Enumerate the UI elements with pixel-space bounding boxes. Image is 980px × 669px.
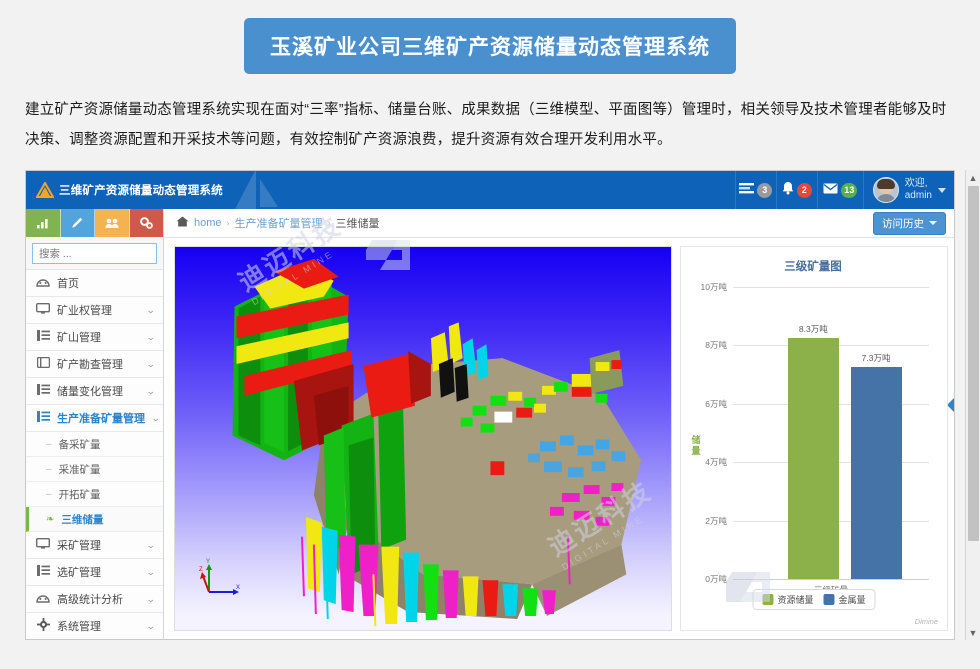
- axis-orientation-gizmo: Y X Z: [199, 558, 245, 602]
- header-tasks-button[interactable]: 3: [735, 171, 776, 209]
- chart-y-tick: 4万吨: [705, 456, 727, 468]
- chevron-down-icon: ⌄: [146, 332, 156, 343]
- quick-action-bar: [26, 209, 163, 237]
- chart-y-tick: 8万吨: [705, 339, 727, 351]
- sidebar-subitem-label: 三维储量: [61, 512, 103, 527]
- list-icon: [36, 565, 50, 579]
- page-description: 建立矿产资源储量动态管理系统实现在面对“三率”指标、储量台账、成果数据（三维模型…: [25, 92, 955, 155]
- sidebar-subitem-kaituo[interactable]: – 开拓矿量: [26, 482, 163, 507]
- chart-y-tick: 0万吨: [705, 573, 727, 585]
- svg-text:Z: Z: [199, 567, 203, 573]
- app-header: 三维矿产资源储量动态管理系统 3: [26, 171, 954, 209]
- sidebar-subitem-label: 备采矿量: [59, 437, 101, 452]
- list-icon: [36, 330, 50, 344]
- chart-legend: 资源储量 金属量: [752, 589, 875, 610]
- sidebar-item-reserve-change[interactable]: 储量变化管理 ⌄: [26, 378, 163, 405]
- quick-edit-button[interactable]: [61, 209, 96, 237]
- sidebar-item-label: 生产准备矿量管理: [57, 410, 145, 426]
- avatar: [873, 177, 899, 203]
- user-name: admin: [905, 190, 932, 201]
- chevron-down-icon: ⌄: [146, 540, 156, 551]
- sidebar-item-label: 储量变化管理: [57, 383, 140, 399]
- chart-y-tick: 2万吨: [705, 515, 727, 527]
- chart-y-tick: 6万吨: [705, 398, 727, 410]
- bar-resource-reserve[interactable]: 8.3万吨: [788, 338, 839, 580]
- user-greeting: 欢迎,: [905, 178, 928, 189]
- dash-icon: –: [46, 464, 52, 475]
- sidebar-item-production-reserve[interactable]: 生产准备矿量管理 ⌄: [26, 405, 163, 432]
- legend-label: 资源储量: [777, 593, 813, 606]
- legend-item-metal-amount[interactable]: 金属量: [824, 593, 866, 606]
- header-notifications-button[interactable]: 2: [776, 171, 817, 209]
- content-area: home › 生产准备矿量管理 › 三维储量 访问历史: [164, 209, 954, 639]
- header-spacer: [164, 171, 735, 209]
- sidebar-item-label: 矿业权管理: [57, 302, 140, 318]
- quick-users-button[interactable]: [95, 209, 130, 237]
- chart-plot-wrapper: 10万吨 8万吨 6万吨 4万吨: [687, 282, 939, 624]
- bar-metal-amount[interactable]: 7.3万吨: [851, 367, 902, 580]
- chart-watermark: Dimine: [915, 617, 938, 626]
- svg-text:X: X: [236, 585, 240, 591]
- breadcrumb-current: 三维储量: [336, 215, 380, 231]
- chevron-down-icon: [929, 221, 937, 225]
- sidebar-item-label: 首页: [57, 275, 155, 291]
- sidebar-item-advanced-stats[interactable]: 高级统计分析 ⌄: [26, 586, 163, 613]
- sidebar-subitem-label: 开拓矿量: [59, 487, 101, 502]
- tasks-icon: [739, 181, 754, 199]
- chevron-down-icon: ⌄: [146, 305, 156, 316]
- search-input[interactable]: [32, 243, 157, 264]
- quick-chart-button[interactable]: [26, 209, 61, 237]
- sidebar-subitem-caizhun[interactable]: – 采准矿量: [26, 457, 163, 482]
- svg-text:Y: Y: [206, 559, 210, 565]
- sidebar-item-mine-management[interactable]: 矿山管理 ⌄: [26, 324, 163, 351]
- chart-plot-area: 10万吨 8万吨 6万吨 4万吨: [733, 288, 929, 580]
- bar-value-label: 8.3万吨: [799, 323, 828, 335]
- sidebar-item-home[interactable]: 首页: [26, 270, 163, 297]
- chevron-down-icon: [938, 188, 946, 193]
- sidebar-subitem-3d-reserve[interactable]: ❧ 三维储量: [26, 507, 163, 532]
- chevron-down-icon: ⌄: [146, 359, 156, 370]
- sidebar-submenu: – 备采矿量 – 采准矿量 – 开拓矿量 ❧ 三维储量: [26, 432, 163, 532]
- scrollbar-track[interactable]: [966, 185, 980, 625]
- chart-y-tick: 10万吨: [701, 281, 727, 293]
- sidebar-item-label: 选矿管理: [57, 564, 140, 580]
- sidebar-search: [26, 237, 163, 269]
- legend-swatch: [762, 594, 773, 605]
- quick-settings-button[interactable]: [130, 209, 164, 237]
- page-title: 玉溪矿业公司三维矿产资源储量动态管理系统: [244, 18, 736, 74]
- scroll-down-arrow-icon[interactable]: ▼: [966, 625, 980, 640]
- sidebar-item-label: 矿山管理: [57, 329, 140, 345]
- book-icon: [36, 357, 50, 371]
- gear-icon: [36, 618, 50, 634]
- reserve-chart-panel: 三级矿量图 储量 10万吨 8万吨 6万吨: [680, 246, 948, 631]
- chevron-down-icon: ⌄: [146, 386, 156, 397]
- legend-swatch: [824, 594, 835, 605]
- chart-bars: 8.3万吨 7.3万吨: [733, 288, 929, 580]
- bell-icon: [782, 181, 794, 200]
- three-d-model-viewer[interactable]: Y X Z: [174, 246, 672, 631]
- list-icon: [36, 384, 50, 398]
- sidebar-item-mining-ops[interactable]: 采矿管理 ⌄: [26, 532, 163, 559]
- sidebar-item-ore-dressing[interactable]: 选矿管理 ⌄: [26, 559, 163, 586]
- chart-title: 三级矿量图: [687, 258, 939, 274]
- breadcrumb: home › 生产准备矿量管理 › 三维储量: [176, 215, 380, 231]
- chart-x-axis: [733, 579, 929, 580]
- home-icon[interactable]: [176, 216, 189, 230]
- sidebar-item-exploration[interactable]: 矿产勘查管理 ⌄: [26, 351, 163, 378]
- sidebar-subitem-label: 采准矿量: [59, 462, 101, 477]
- legend-label: 金属量: [839, 593, 866, 606]
- breadcrumb-separator: ›: [227, 218, 230, 228]
- breadcrumb-parent-link[interactable]: 生产准备矿量管理: [235, 215, 323, 231]
- sidebar: 首页 矿业权管理 ⌄ 矿山管理 ⌄: [26, 209, 164, 639]
- chevron-down-icon: ⌄: [151, 413, 161, 424]
- visit-history-button[interactable]: 访问历史: [873, 212, 946, 235]
- list-icon: [36, 411, 50, 425]
- chevron-down-icon: ⌄: [146, 567, 156, 578]
- page-scrollbar[interactable]: ▲ ▼: [965, 170, 980, 640]
- dash-icon: –: [46, 439, 52, 450]
- chevron-down-icon: ⌄: [146, 621, 156, 632]
- mountain-triangle-logo-icon: [36, 182, 54, 198]
- panes: Y X Z 三级矿量图 储量: [164, 238, 954, 639]
- sidebar-menu: 首页 矿业权管理 ⌄ 矿山管理 ⌄: [26, 269, 163, 639]
- sidebar-item-label: 系统管理: [57, 618, 140, 634]
- sidebar-item-system[interactable]: 系统管理 ⌄: [26, 613, 163, 639]
- sidebar-item-label: 采矿管理: [57, 537, 140, 553]
- breadcrumb-separator: ›: [328, 218, 331, 228]
- user-menu[interactable]: 欢迎, admin: [863, 171, 954, 209]
- app-body: 首页 矿业权管理 ⌄ 矿山管理 ⌄: [26, 209, 954, 639]
- brand[interactable]: 三维矿产资源储量动态管理系统: [26, 171, 164, 209]
- notifications-badge: 2: [797, 183, 812, 198]
- dash-icon: –: [46, 489, 52, 500]
- visit-history-label: 访问历史: [882, 216, 924, 231]
- dashboard-icon: [36, 277, 50, 290]
- monitor-icon: [36, 303, 50, 317]
- leaf-icon: ❧: [46, 514, 54, 525]
- page-banner-container: 玉溪矿业公司三维矿产资源储量动态管理系统: [0, 0, 980, 92]
- scrollbar-thumb[interactable]: [968, 186, 979, 541]
- monitor-icon: [36, 538, 50, 552]
- breadcrumb-bar: home › 生产准备矿量管理 › 三维储量 访问历史: [164, 209, 954, 238]
- scroll-up-arrow-icon[interactable]: ▲: [966, 170, 980, 185]
- header-messages-button[interactable]: 13: [817, 171, 863, 209]
- sidebar-item-label: 高级统计分析: [57, 591, 140, 607]
- chevron-down-icon: ⌄: [146, 594, 156, 605]
- dashboard-icon: [36, 593, 50, 606]
- sidebar-item-mining-rights[interactable]: 矿业权管理 ⌄: [26, 297, 163, 324]
- envelope-icon: [823, 181, 838, 199]
- ore-body-block-model: [175, 247, 671, 629]
- breadcrumb-home-link[interactable]: home: [194, 217, 222, 229]
- application-window: 三维矿产资源储量动态管理系统 3: [25, 170, 955, 640]
- bar-value-label: 7.3万吨: [862, 352, 891, 364]
- messages-badge: 13: [841, 183, 857, 198]
- legend-item-resource-reserve[interactable]: 资源储量: [762, 593, 813, 606]
- tasks-badge: 3: [757, 183, 772, 198]
- sidebar-item-label: 矿产勘查管理: [57, 356, 140, 372]
- sidebar-subitem-beicai[interactable]: – 备采矿量: [26, 432, 163, 457]
